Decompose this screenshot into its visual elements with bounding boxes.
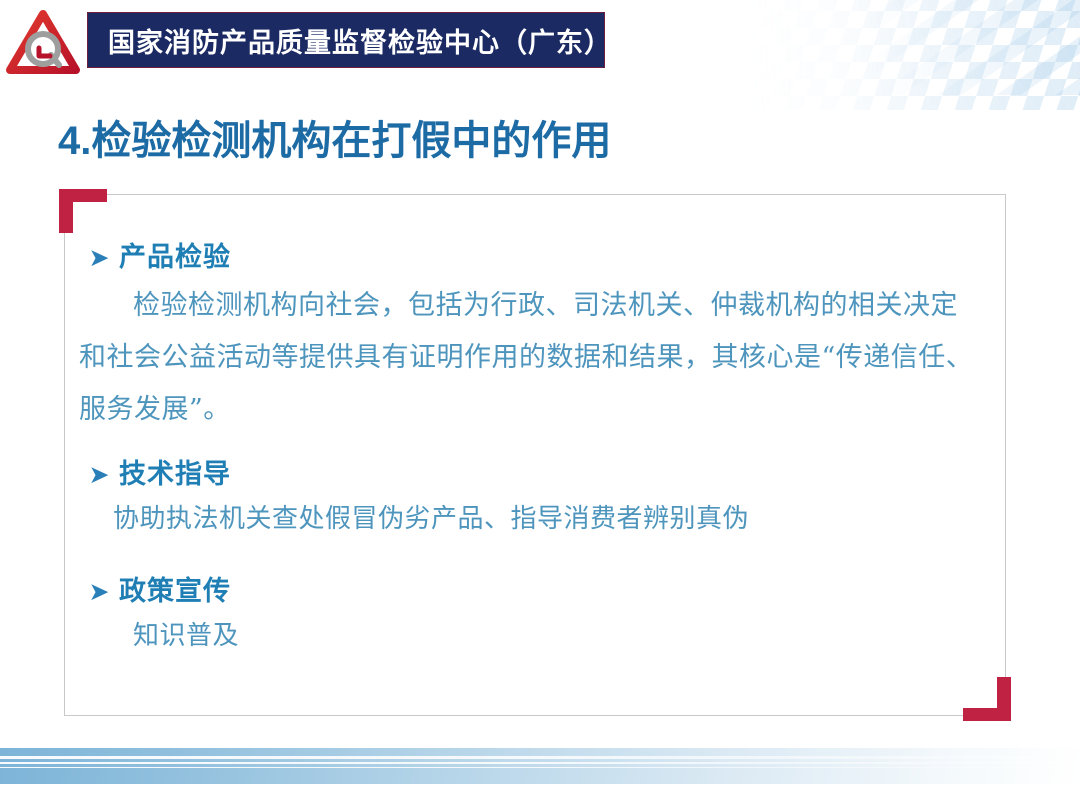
- arrow-bullet-icon: ➤: [79, 246, 119, 271]
- page-title: 4.检验检测机构在打假中的作用: [58, 108, 611, 166]
- bullet-item-technical-guidance: ➤ 技术指导: [79, 452, 985, 491]
- footer-highlight-line: [0, 767, 1080, 768]
- header-banner: 国家消防产品质量监督检验中心（广东）: [87, 12, 605, 68]
- bullet-paragraph-product-inspection: 检验检测机构向社会，包括为行政、司法机关、仲裁机构的相关决定和社会公益活动等提供…: [79, 280, 985, 436]
- footer-white-strip: [0, 784, 1080, 810]
- corner-marker-bottom-right-icon: [963, 677, 1011, 721]
- footer-band: [0, 748, 1080, 784]
- arrow-bullet-icon: ➤: [79, 580, 119, 605]
- content-box: ➤ 产品检验 检验检测机构向社会，包括为行政、司法机关、仲裁机构的相关决定和社会…: [64, 194, 1006, 716]
- slide-header: 国家消防产品质量监督检验中心（广东）: [0, 0, 1080, 90]
- bullet-heading: 产品检验: [119, 235, 231, 274]
- slide-canvas: 国家消防产品质量监督检验中心（广东） 4.检验检测机构在打假中的作用 ➤ 产品检…: [0, 0, 1080, 810]
- footer-highlight-line: [0, 762, 1080, 764]
- bullet-paragraph-technical-guidance: 协助执法机关查处假冒伪劣产品、指导消费者辨别真伪: [79, 495, 985, 543]
- bullet-paragraph-policy-promotion: 知识普及: [79, 612, 985, 660]
- header-banner-title: 国家消防产品质量监督检验中心（广东）: [108, 21, 612, 60]
- bullet-item-product-inspection: ➤ 产品检验: [79, 235, 985, 274]
- bullet-heading: 技术指导: [119, 452, 231, 491]
- qg-certification-logo-icon: [6, 8, 80, 78]
- footer-highlight-line: [0, 756, 1080, 759]
- bullet-heading: 政策宣传: [119, 569, 231, 608]
- content-body: ➤ 产品检验 检验检测机构向社会，包括为行政、司法机关、仲裁机构的相关决定和社会…: [65, 195, 1007, 672]
- arrow-bullet-icon: ➤: [79, 463, 119, 488]
- bullet-item-policy-promotion: ➤ 政策宣传: [79, 569, 985, 608]
